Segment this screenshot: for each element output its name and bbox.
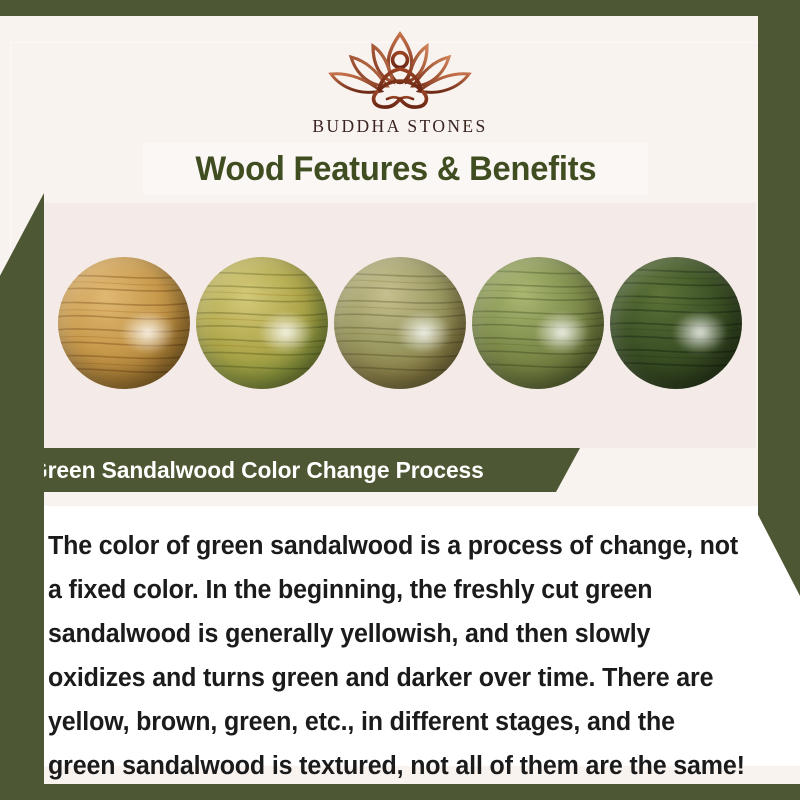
bead-shading [472, 257, 604, 389]
brand-name: BUDDHA STONES [0, 116, 800, 137]
lotus-meditation-figure-icon [315, 22, 485, 114]
brand-logo: BUDDHA STONES [0, 22, 800, 137]
bead-shading [334, 257, 466, 389]
bead-stage-2 [196, 257, 328, 389]
frame-right-bar [758, 16, 800, 596]
bead-shading [610, 257, 742, 389]
bead-color-stages [44, 252, 756, 394]
bead-stage-5 [610, 257, 742, 389]
section-heading-banner: Green Sandalwood Color Change Process [0, 448, 580, 492]
title-banner: Wood Features & Benefits [143, 143, 648, 195]
body-paragraph: The color of green sandalwood is a proce… [48, 524, 748, 788]
bead-stage-1 [58, 257, 190, 389]
bead-stage-3 [334, 257, 466, 389]
frame-top-bar [0, 0, 800, 16]
frame-left-bar [0, 193, 44, 784]
page-title: Wood Features & Benefits [195, 150, 596, 189]
bead-shading [196, 257, 328, 389]
section-heading: Green Sandalwood Color Change Process [30, 457, 484, 484]
bead-stage-4 [472, 257, 604, 389]
poster-canvas: BUDDHA STONES Wood Features & Benefits [0, 0, 800, 800]
bead-shading [58, 257, 190, 389]
